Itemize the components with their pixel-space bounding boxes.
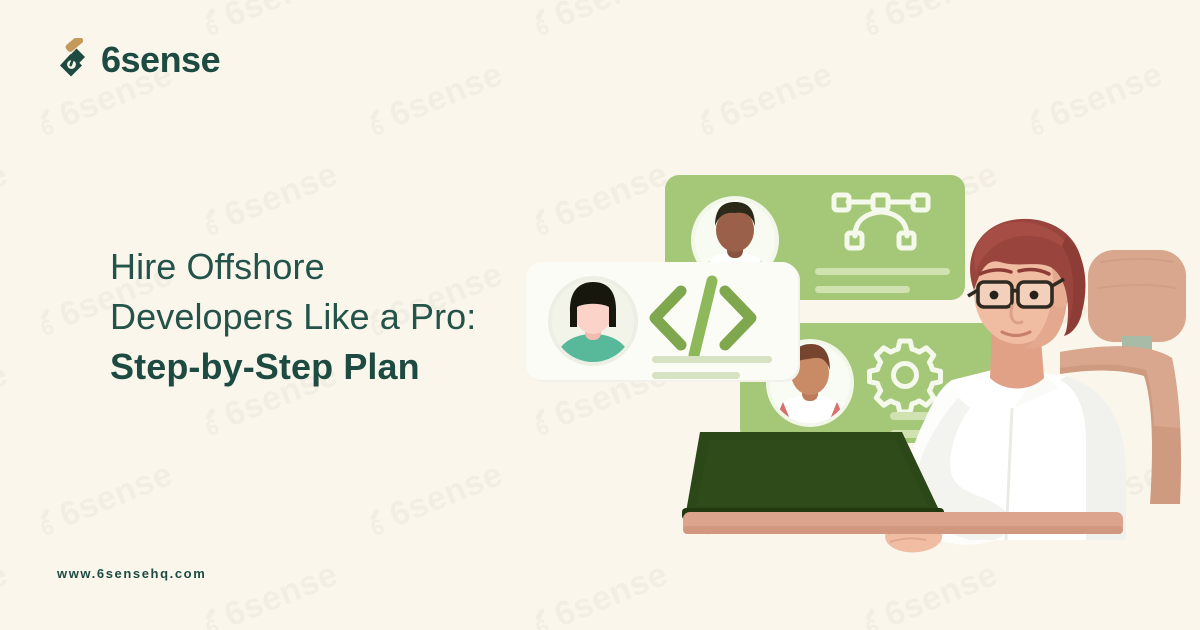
- card-code-textline-1: [652, 356, 772, 363]
- watermark-6sense: 6sense: [198, 555, 344, 630]
- watermark-6sense: 6sense: [0, 0, 13, 44]
- watermark-6sense: 6sense: [198, 155, 344, 244]
- hero-illustration: [500, 140, 1200, 590]
- watermark-6sense: 6sense: [33, 455, 179, 544]
- card-code-textline-2: [652, 372, 740, 379]
- og-image-canvas: 6sense6sense6sense6sense6sense6sense6sen…: [0, 0, 1200, 630]
- card-network-textline-2: [815, 286, 910, 293]
- desk-surface: [683, 512, 1123, 534]
- watermark-6sense: 6sense: [0, 155, 13, 244]
- watermark-6sense: 6sense: [1023, 55, 1169, 144]
- watermark-6sense: 6sense: [363, 55, 509, 144]
- brand-name: 6sense: [101, 42, 220, 78]
- 6sense-logo-mark-icon: [56, 38, 90, 82]
- website-url[interactable]: www.6sensehq.com: [57, 566, 206, 581]
- watermark-6sense: 6sense: [0, 555, 13, 630]
- watermark-6sense: 6sense: [858, 0, 1004, 44]
- watermark-6sense: 6sense: [693, 55, 839, 144]
- brand-logo[interactable]: 6sense: [56, 38, 220, 82]
- card-code: [526, 262, 800, 382]
- open-laptop: [682, 432, 944, 520]
- card-network-textline-1: [815, 268, 950, 275]
- watermark-6sense: 6sense: [0, 355, 13, 444]
- watermark-6sense: 6sense: [363, 455, 509, 544]
- watermark-6sense: 6sense: [528, 0, 674, 44]
